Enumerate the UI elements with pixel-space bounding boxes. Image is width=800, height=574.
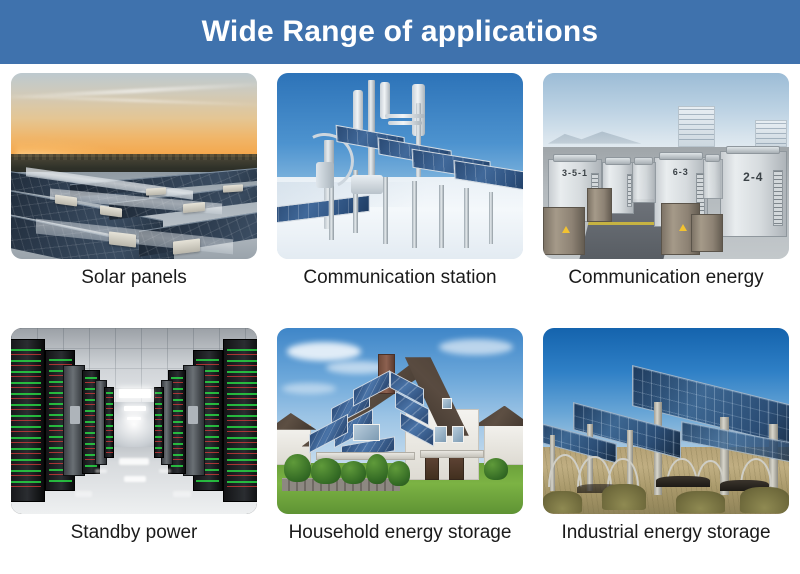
power-cabinet: [543, 207, 585, 255]
rack-handle: [188, 406, 198, 425]
entry-door: [449, 456, 464, 480]
dry-grass-tuft: [676, 491, 725, 513]
dry-grass-tuft: [740, 487, 789, 513]
window: [434, 426, 446, 443]
application-card-standby-power[interactable]: Standby power: [11, 328, 257, 574]
shrub: [341, 461, 366, 483]
support-leg: [412, 181, 417, 248]
dormer-window: [353, 424, 380, 441]
shrub: [284, 454, 311, 482]
household-energy-storage-scene: [277, 328, 523, 514]
application-card-industrial-energy-storage[interactable]: Industrial energy storage: [543, 328, 789, 574]
applications-grid: Solar panels: [0, 64, 800, 574]
server-rack: [154, 387, 164, 458]
cloud: [287, 342, 361, 361]
rack-leds: [11, 349, 41, 491]
standby-power-image: [11, 328, 257, 514]
window: [442, 398, 452, 409]
shrub: [388, 461, 410, 485]
floor-reflection: [124, 476, 146, 482]
hvac-unit: 2-4: [720, 151, 786, 237]
equipment-cabinet: [316, 162, 333, 188]
antenna-panel: [353, 90, 363, 131]
unit-fan: [605, 157, 630, 165]
application-card-solar-panels[interactable]: Solar panels: [11, 73, 257, 320]
communication-station-image: [277, 73, 523, 259]
shrub: [311, 458, 341, 484]
application-card-communication-energy[interactable]: 3-5-1 6-3 2-4: [543, 73, 789, 320]
solar-panels-scene: [11, 73, 257, 259]
equipment-cabinet: [351, 175, 383, 194]
office-tower: [755, 120, 787, 148]
server-rack: [104, 387, 114, 458]
power-cabinet: [691, 214, 723, 251]
industrial-energy-storage-image: [543, 328, 789, 514]
page-title: Wide Range of applications: [202, 17, 599, 47]
unit-fan: [705, 154, 720, 162]
support-leg: [464, 188, 469, 248]
office-tower: [678, 106, 715, 147]
irrigation-tube: [656, 476, 710, 487]
standby-power-scene: [11, 328, 257, 514]
hvac-unit: [703, 159, 723, 200]
roof-vent: [223, 184, 243, 193]
warning-triangle-icon: [679, 224, 687, 231]
rack-leds: [106, 392, 113, 452]
floor-reflection: [119, 458, 149, 465]
unit-grill: [773, 170, 783, 225]
shrub: [484, 458, 509, 480]
application-card-label: Industrial energy storage: [543, 522, 789, 544]
application-card-label: Communication station: [277, 267, 523, 289]
ceiling-light: [127, 417, 142, 421]
floor-reflection: [159, 469, 171, 473]
dry-grass-tuft: [602, 484, 646, 510]
floor-reflection: [95, 469, 107, 473]
power-cabinet: [587, 188, 612, 221]
rack-handle: [70, 406, 80, 425]
communication-energy-image: 3-5-1 6-3 2-4: [543, 73, 789, 259]
unit-fan: [659, 152, 703, 160]
rack-leds: [155, 392, 162, 452]
solar-panels-image: [11, 73, 257, 259]
application-card-household-energy-storage[interactable]: Household energy storage: [277, 328, 523, 574]
application-card-label: Communication energy: [543, 267, 789, 289]
server-rack: [11, 339, 45, 503]
server-rack: [223, 339, 257, 503]
ceiling-light: [119, 389, 151, 398]
application-card-label: Household energy storage: [277, 522, 523, 544]
application-card-label: Solar panels: [11, 267, 257, 289]
hvac-unit: [632, 162, 657, 203]
ceiling-light: [124, 406, 146, 412]
unit-fan: [726, 146, 780, 154]
rack-leds: [227, 349, 257, 491]
floor-reflection: [173, 491, 190, 497]
support-leg: [383, 177, 388, 244]
antenna-mast: [368, 80, 375, 177]
warning-triangle-icon: [562, 226, 570, 233]
support-leg: [439, 185, 444, 248]
household-energy-storage-image: [277, 328, 523, 514]
porch-awning: [420, 450, 484, 457]
support-leg: [329, 185, 334, 241]
entry-door: [425, 456, 440, 480]
communication-energy-scene: 3-5-1 6-3 2-4: [543, 73, 789, 259]
shrub: [366, 454, 388, 484]
floor-reflection: [75, 491, 92, 497]
unit-fan: [553, 154, 597, 162]
window: [452, 426, 464, 443]
antenna-crossbar: [388, 121, 422, 125]
application-card-communication-station[interactable]: Communication station: [277, 73, 523, 320]
unit-fan: [634, 157, 653, 165]
industrial-energy-storage-scene: [543, 328, 789, 514]
dry-grass-tuft: [543, 491, 582, 513]
application-card-label: Standby power: [11, 522, 257, 544]
page-header-banner: Wide Range of applications: [0, 0, 800, 64]
communication-station-scene: [277, 73, 523, 259]
support-leg: [489, 192, 494, 244]
antenna-crossbar: [385, 114, 424, 118]
